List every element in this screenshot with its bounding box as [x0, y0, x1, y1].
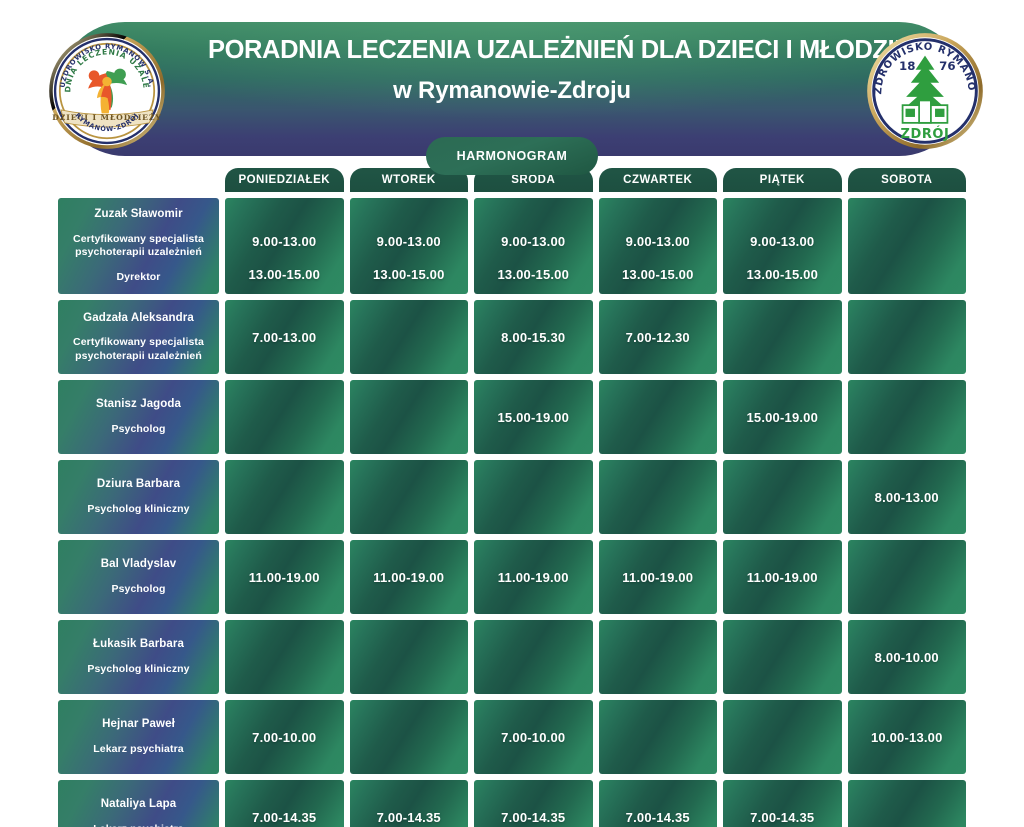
time-slot: 8.00-15.30	[501, 330, 565, 345]
schedule-cell	[599, 700, 718, 774]
day-header-1: PONIEDZIAŁEK	[225, 168, 344, 192]
time-slot: 7.00-14.35	[377, 810, 441, 825]
schedule-cell	[350, 380, 469, 454]
svg-text:DZIECI I MŁODZIEŻY: DZIECI I MŁODZIEŻY	[52, 113, 161, 122]
schedule-cell: 7.00-10.00	[474, 700, 593, 774]
time-slot: 11.00-19.00	[249, 570, 320, 585]
schedule-cell	[723, 460, 842, 534]
banner-text-block: PORADNIA LECZENIA UZALEŻNIEŃ DLA DZIECI …	[208, 36, 816, 105]
schedule-cell: 7.00-14.35	[225, 780, 344, 827]
staff-name-cell: Stanisz JagodaPsycholog	[58, 380, 219, 454]
schedule-grid: PONIEDZIAŁEKWTOREKŚRODACZWARTEKPIĄTEKSOB…	[58, 168, 966, 827]
time-slot: 7.00-13.00	[252, 330, 316, 345]
staff-role: Psycholog kliniczny	[87, 503, 189, 517]
schedule-cell: 8.00-13.00	[848, 460, 967, 534]
schedule-cell: 10.00-13.00	[848, 700, 967, 774]
schedule-cell	[723, 620, 842, 694]
schedule-cell: 11.00-19.00	[599, 540, 718, 614]
day-header-6: SOBOTA	[848, 168, 967, 192]
staff-name-cell: Gadzała AleksandraCertyfikowany specjali…	[58, 300, 219, 374]
schedule-cell	[350, 620, 469, 694]
staff-name-cell: Dziura BarbaraPsycholog kliniczny	[58, 460, 219, 534]
schedule-cell: 8.00-10.00	[848, 620, 967, 694]
time-slot: 13.00-15.00	[746, 267, 818, 282]
schedule-cell: 7.00-14.35	[474, 780, 593, 827]
staff-name-cell: Zuzak SławomirCertyfikowany specjalista …	[58, 198, 219, 294]
svg-text:18: 18	[899, 59, 915, 73]
time-slot: 10.00-13.00	[871, 730, 943, 745]
time-slot: 7.00-14.35	[501, 810, 565, 825]
schedule-cell: 7.00-12.30	[599, 300, 718, 374]
schedule-cell: 11.00-19.00	[723, 540, 842, 614]
schedule-cell: 15.00-19.00	[474, 380, 593, 454]
staff-role: Certyfikowany specjalista psychoterapii …	[66, 336, 211, 363]
day-header-5: PIĄTEK	[723, 168, 842, 192]
page-subtitle: w Rymanowie-Zdroju	[208, 77, 816, 105]
schedule-cell	[599, 380, 718, 454]
schedule-cell	[350, 300, 469, 374]
staff-person-name: Stanisz Jagoda	[96, 397, 181, 411]
time-slot: 15.00-19.00	[497, 410, 569, 425]
time-slot: 7.00-14.35	[626, 810, 690, 825]
schedule-cell: 11.00-19.00	[225, 540, 344, 614]
staff-role-secondary: Dyrektor	[117, 271, 161, 285]
time-slot: 13.00-15.00	[248, 267, 320, 282]
staff-person-name: Bal Vladyslav	[101, 557, 176, 571]
time-slot: 11.00-19.00	[747, 570, 818, 585]
schedule-cell	[225, 460, 344, 534]
staff-role: Lekarz psychiatra	[93, 743, 183, 757]
time-slot: 13.00-15.00	[622, 267, 694, 282]
staff-role: Psycholog	[112, 583, 166, 597]
schedule-cell: 11.00-19.00	[350, 540, 469, 614]
schedule-cell	[225, 380, 344, 454]
schedule-cell	[225, 620, 344, 694]
schedule-cell: 9.00-13.0013.00-15.00	[723, 198, 842, 294]
schedule-cell	[848, 380, 967, 454]
harmonogram-button[interactable]: HARMONOGRAM	[426, 137, 598, 175]
time-slot: 11.00-19.00	[498, 570, 569, 585]
schedule-cell	[848, 780, 967, 827]
time-slot: 15.00-19.00	[746, 410, 818, 425]
schedule-cell: 9.00-13.0013.00-15.00	[599, 198, 718, 294]
time-slot: 7.00-14.35	[750, 810, 814, 825]
staff-name-cell: Bal VladyslavPsycholog	[58, 540, 219, 614]
staff-person-name: Gadzała Aleksandra	[83, 311, 194, 325]
svg-text:76: 76	[939, 59, 955, 73]
time-slot: 13.00-15.00	[373, 267, 445, 282]
schedule-cell	[599, 460, 718, 534]
time-slot: 9.00-13.00	[750, 234, 814, 249]
schedule-cell	[474, 620, 593, 694]
time-slot: 9.00-13.00	[252, 234, 316, 249]
poradnia-logo-icon: UZDROWISKO RYMANÓW S.A. PORADNIA LECZENI…	[48, 32, 166, 150]
schedule-cell	[723, 700, 842, 774]
time-slot: 13.00-15.00	[497, 267, 569, 282]
time-slot: 7.00-10.00	[501, 730, 565, 745]
time-slot: 9.00-13.00	[501, 234, 565, 249]
schedule-cell: 15.00-19.00	[723, 380, 842, 454]
schedule-cell: 11.00-19.00	[474, 540, 593, 614]
time-slot: 7.00-10.00	[252, 730, 316, 745]
schedule-cell: 7.00-10.00	[225, 700, 344, 774]
schedule-cell	[848, 300, 967, 374]
schedule-cell: 9.00-13.0013.00-15.00	[225, 198, 344, 294]
schedule-cell: 8.00-15.30	[474, 300, 593, 374]
time-slot: 7.00-12.30	[626, 330, 690, 345]
time-slot: 8.00-10.00	[875, 650, 939, 665]
page-title: PORADNIA LECZENIA UZALEŻNIEŃ DLA DZIECI …	[208, 36, 816, 65]
staff-role: Certyfikowany specjalista psychoterapii …	[66, 233, 211, 260]
day-header-4: CZWARTEK	[599, 168, 718, 192]
time-slot: 11.00-19.00	[622, 570, 693, 585]
staff-name-cell: Hejnar PawełLekarz psychiatra	[58, 700, 219, 774]
schedule-cell	[723, 300, 842, 374]
staff-name-cell: Łukasik BarbaraPsycholog kliniczny	[58, 620, 219, 694]
svg-text:ZDRÓJ: ZDRÓJ	[901, 126, 950, 142]
staff-name-cell: Nataliya LapaLekarz psychiatra	[58, 780, 219, 827]
time-slot: 9.00-13.00	[626, 234, 690, 249]
schedule-cell: 7.00-14.35	[350, 780, 469, 827]
schedule-cell	[848, 540, 967, 614]
schedule-cell	[350, 460, 469, 534]
schedule-cell	[848, 198, 967, 294]
uzdrowisko-logo-icon: UZDROWISKO RYMANÓW 18 76 ZDRÓJ	[866, 32, 984, 150]
schedule-cell: 7.00-14.35	[723, 780, 842, 827]
time-slot: 8.00-13.00	[875, 490, 939, 505]
staff-person-name: Hejnar Paweł	[102, 717, 175, 731]
staff-person-name: Dziura Barbara	[97, 477, 180, 491]
staff-person-name: Nataliya Lapa	[101, 797, 176, 811]
schedule-cell	[474, 460, 593, 534]
time-slot: 11.00-19.00	[373, 570, 444, 585]
grid-corner-blank	[58, 168, 219, 192]
staff-person-name: Zuzak Sławomir	[94, 207, 182, 221]
schedule-cell	[599, 620, 718, 694]
schedule-cell: 9.00-13.0013.00-15.00	[474, 198, 593, 294]
time-slot: 9.00-13.00	[377, 234, 441, 249]
schedule-cell: 7.00-14.35	[599, 780, 718, 827]
staff-role: Psycholog	[112, 423, 166, 437]
header-banner: PORADNIA LECZENIA UZALEŻNIEŃ DLA DZIECI …	[58, 22, 966, 156]
staff-role: Psycholog kliniczny	[87, 663, 189, 677]
schedule-cell: 9.00-13.0013.00-15.00	[350, 198, 469, 294]
staff-person-name: Łukasik Barbara	[93, 637, 184, 651]
schedule-page: { "header": { "title_main": "PORADNIA LE…	[0, 0, 1024, 827]
staff-role: Lekarz psychiatra	[93, 823, 183, 827]
schedule-cell	[350, 700, 469, 774]
schedule-cell: 7.00-13.00	[225, 300, 344, 374]
time-slot: 7.00-14.35	[252, 810, 316, 825]
